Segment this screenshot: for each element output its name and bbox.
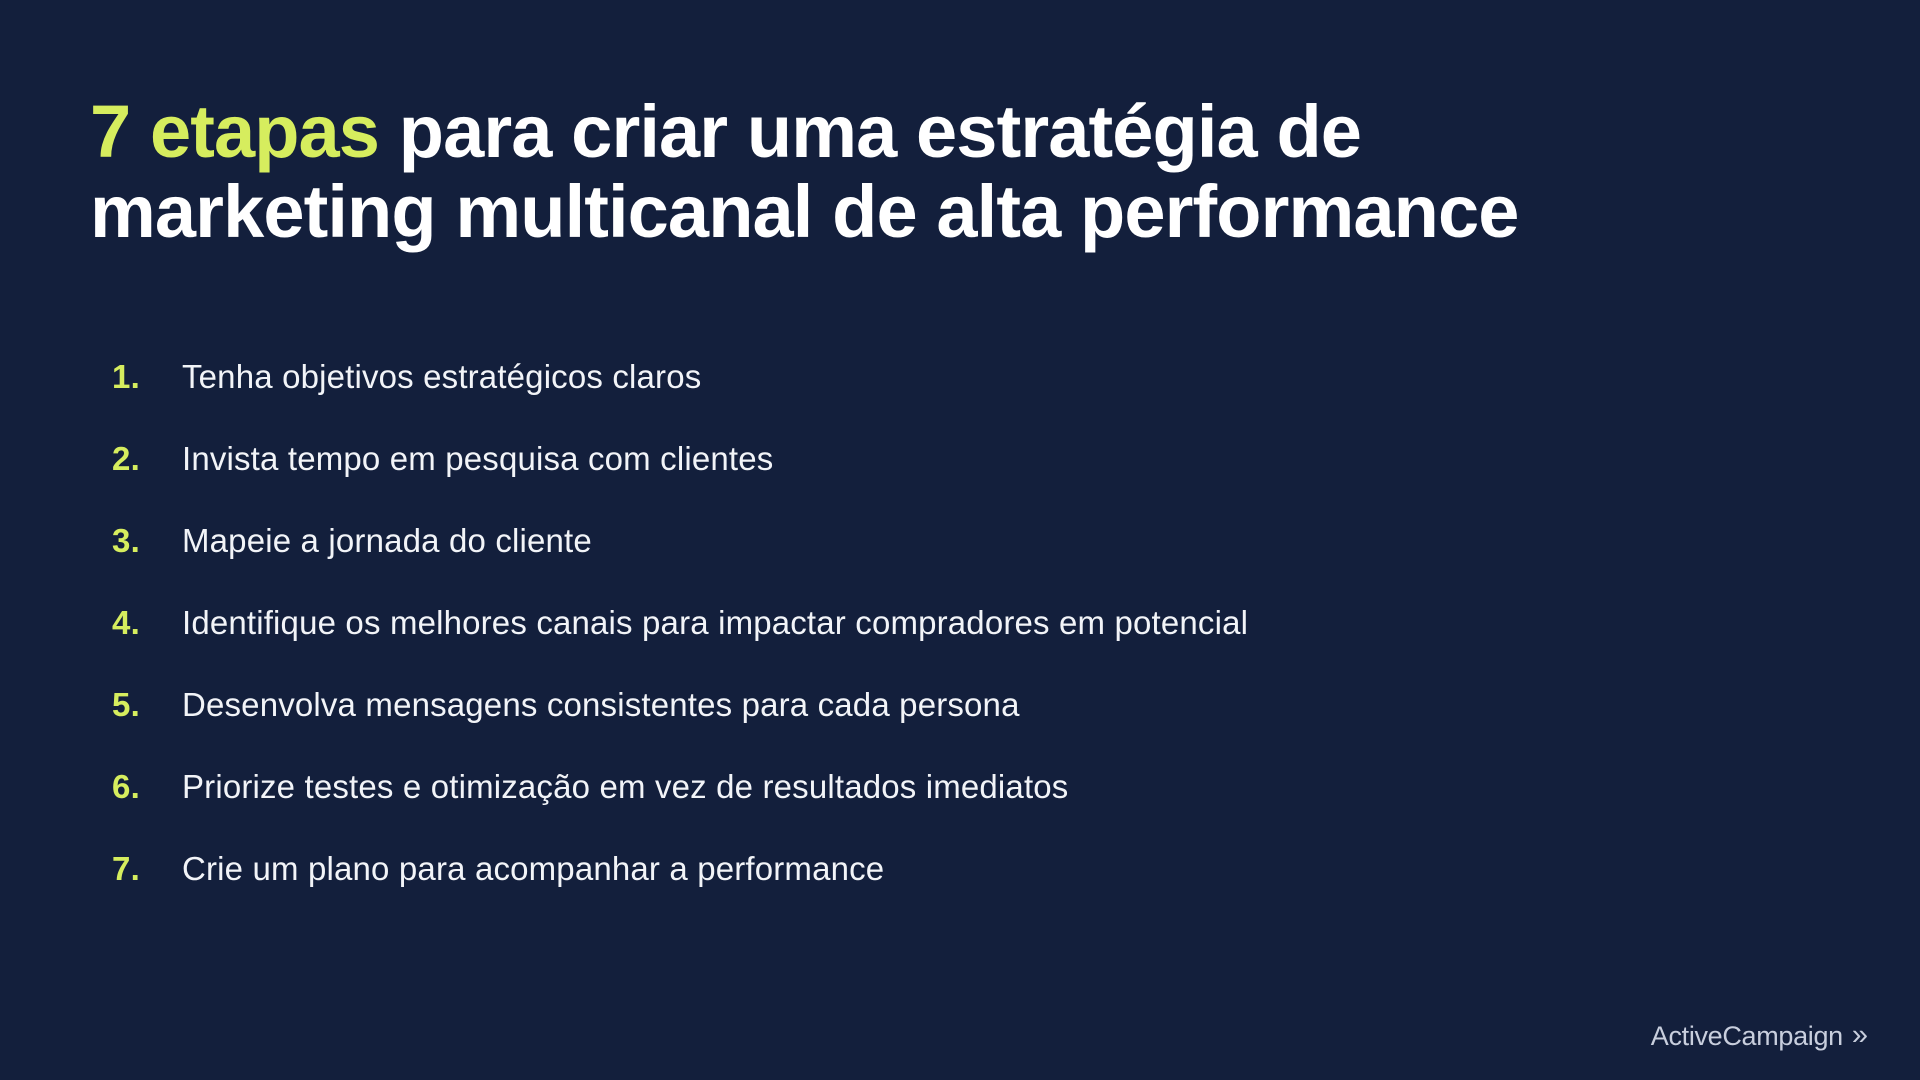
list-item-text: Crie um plano para acompanhar a performa… xyxy=(182,850,1812,888)
list-item-text: Invista tempo em pesquisa com clientes xyxy=(182,440,1812,478)
logo-wordmark: ActiveCampaign xyxy=(1651,1021,1843,1052)
presentation-slide: 7 etapas para criar uma estratégia de ma… xyxy=(0,0,1920,1080)
list-item-number: 3. xyxy=(112,522,182,560)
list-item-text: Mapeie a jornada do cliente xyxy=(182,522,1812,560)
page-title: 7 etapas para criar uma estratégia de ma… xyxy=(90,92,1850,252)
list-item: 7. Crie um plano para acompanhar a perfo… xyxy=(112,850,1812,932)
list-item-number: 2. xyxy=(112,440,182,478)
list-item-number: 4. xyxy=(112,604,182,642)
list-item-number: 7. xyxy=(112,850,182,888)
list-item: 4. Identifique os melhores canais para i… xyxy=(112,604,1812,686)
list-item-number: 5. xyxy=(112,686,182,724)
list-item-number: 1. xyxy=(112,358,182,396)
list-item-text: Tenha objetivos estratégicos claros xyxy=(182,358,1812,396)
list-item-text: Desenvolva mensagens consistentes para c… xyxy=(182,686,1812,724)
list-item: 1. Tenha objetivos estratégicos claros xyxy=(112,358,1812,440)
list-item: 2. Invista tempo em pesquisa com cliente… xyxy=(112,440,1812,522)
steps-list: 1. Tenha objetivos estratégicos claros 2… xyxy=(112,358,1812,932)
title-accent-text: 7 etapas xyxy=(90,90,379,173)
list-item: 5. Desenvolva mensagens consistentes par… xyxy=(112,686,1812,768)
activecampaign-chevron-icon: » xyxy=(1852,1021,1868,1050)
list-item-number: 6. xyxy=(112,768,182,806)
title-line-1-rest: para criar uma estratégia de xyxy=(379,90,1361,173)
title-heading: 7 etapas para criar uma estratégia de ma… xyxy=(90,92,1850,252)
list-item-text: Priorize testes e otimização em vez de r… xyxy=(182,768,1812,806)
list-item: 3. Mapeie a jornada do cliente xyxy=(112,522,1812,604)
title-line-1: 7 etapas para criar uma estratégia de xyxy=(90,92,1850,172)
activecampaign-logo: ActiveCampaign » xyxy=(1651,1021,1868,1052)
list-item-text: Identifique os melhores canais para impa… xyxy=(182,604,1812,642)
title-line-2: marketing multicanal de alta performance xyxy=(90,172,1850,252)
list-item: 6. Priorize testes e otimização em vez d… xyxy=(112,768,1812,850)
